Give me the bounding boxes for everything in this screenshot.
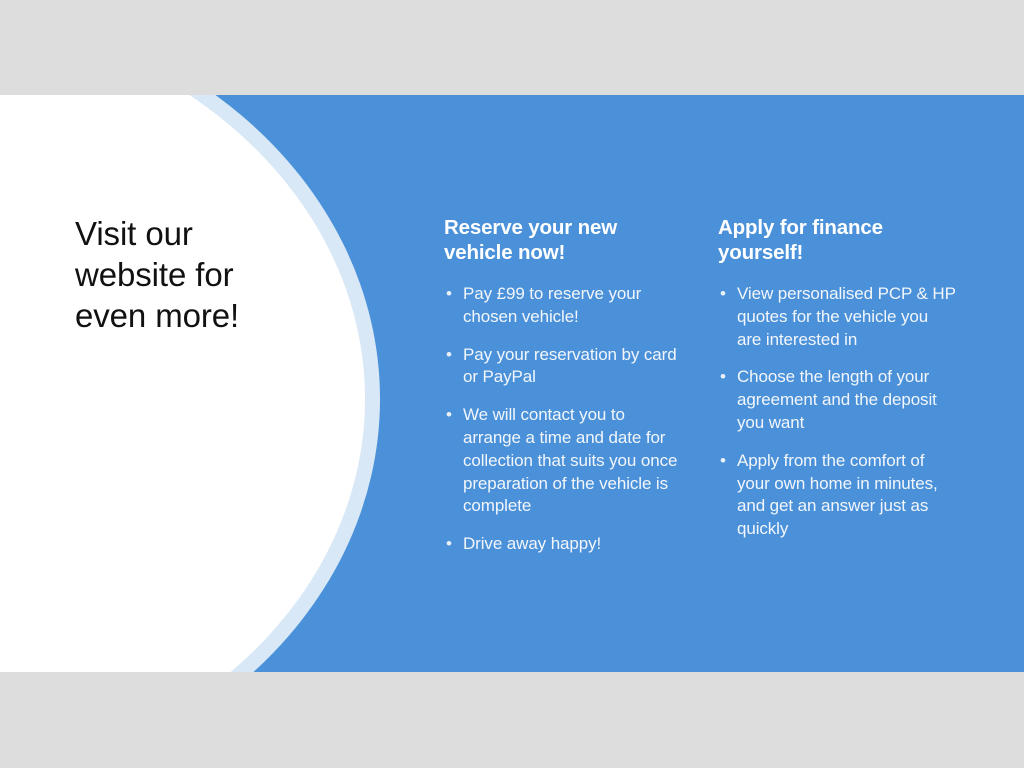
list-item: • Apply from the comfort of your own hom… — [718, 450, 956, 541]
bullet-list-reserve: • Pay £99 to reserve your chosen vehicle… — [444, 283, 684, 556]
list-item-text: Apply from the comfort of your own home … — [737, 450, 956, 541]
bullet-dot-icon: • — [720, 450, 726, 473]
bullet-dot-icon: • — [720, 283, 726, 306]
list-item-text: Drive away happy! — [463, 533, 684, 556]
list-item: • Drive away happy! — [444, 533, 684, 556]
column-heading-finance: Apply for finance yourself! — [718, 215, 956, 265]
slide-canvas: Visit our website for even more! Reserve… — [0, 95, 1024, 672]
content-column-reserve: Reserve your new vehicle now! • Pay £99 … — [444, 215, 684, 556]
content-column-finance: Apply for finance yourself! • View perso… — [718, 215, 956, 541]
bullet-dot-icon: • — [446, 404, 452, 427]
list-item: • Pay £99 to reserve your chosen vehicle… — [444, 283, 684, 329]
column-heading-reserve: Reserve your new vehicle now! — [444, 215, 684, 265]
list-item: • View personalised PCP & HP quotes for … — [718, 283, 956, 351]
decorative-left-fill — [0, 95, 120, 672]
bullet-dot-icon: • — [446, 533, 452, 556]
slide-headline: Visit our website for even more! — [75, 213, 345, 336]
list-item: • Choose the length of your agreement an… — [718, 366, 956, 434]
bullet-list-finance: • View personalised PCP & HP quotes for … — [718, 283, 956, 541]
list-item-text: Pay your reservation by card or PayPal — [463, 344, 684, 390]
bullet-dot-icon: • — [446, 283, 452, 306]
list-item: • We will contact you to arrange a time … — [444, 404, 684, 518]
list-item-text: View personalised PCP & HP quotes for th… — [737, 283, 956, 351]
list-item: • Pay your reservation by card or PayPal — [444, 344, 684, 390]
list-item-text: Pay £99 to reserve your chosen vehicle! — [463, 283, 684, 329]
bullet-dot-icon: • — [720, 366, 726, 389]
list-item-text: Choose the length of your agreement and … — [737, 366, 956, 434]
bullet-dot-icon: • — [446, 344, 452, 367]
letterbox-frame: Visit our website for even more! Reserve… — [0, 0, 1024, 768]
list-item-text: We will contact you to arrange a time an… — [463, 404, 684, 518]
